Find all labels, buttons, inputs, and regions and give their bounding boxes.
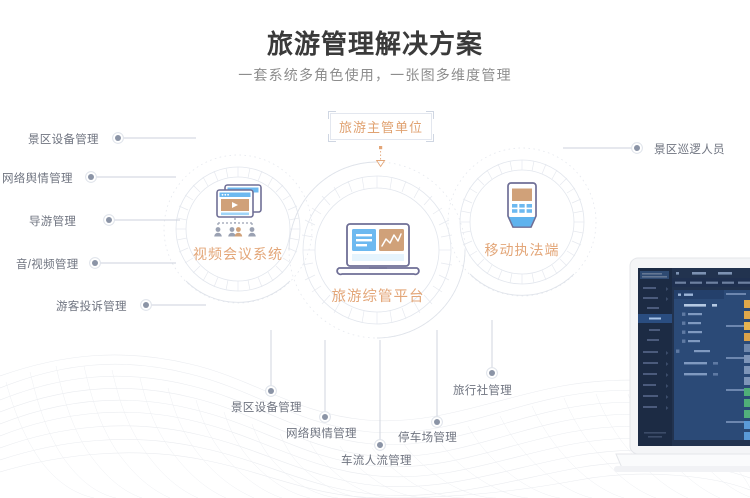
left-connectors xyxy=(95,138,206,305)
laptop-dashboard-icon xyxy=(333,222,423,280)
bottom-connectors xyxy=(271,320,492,440)
mobile-enforcement-device-icon xyxy=(500,182,544,238)
center-node-caption: 旅游综管平台 xyxy=(312,285,444,306)
right-label-0[interactable]: 景区巡逻人员 xyxy=(654,141,725,157)
laptop-mockup xyxy=(614,252,750,498)
right-connector-dots xyxy=(632,143,643,154)
left-label-3[interactable]: 音/视频管理 xyxy=(16,256,79,272)
bottom-label-0[interactable]: 景区设备管理 xyxy=(231,399,302,415)
badge-connector xyxy=(377,146,385,167)
page-subtitle: 一套系统多角色使用，一张图多维度管理 xyxy=(0,65,750,85)
left-label-2[interactable]: 导游管理 xyxy=(29,213,76,229)
left-label-4[interactable]: 游客投诉管理 xyxy=(56,298,127,314)
bottom-label-2[interactable]: 车流人流管理 xyxy=(341,452,412,468)
right-node-caption: 移动执法端 xyxy=(470,240,574,260)
video-conference-icon xyxy=(205,183,273,239)
authority-badge[interactable]: 旅游主管单位 xyxy=(330,113,432,140)
left-connector-dots xyxy=(86,133,152,311)
page-title: 旅游管理解决方案 xyxy=(0,24,750,61)
badge-label: 旅游主管单位 xyxy=(330,113,432,140)
left-label-0[interactable]: 景区设备管理 xyxy=(28,131,99,147)
bottom-label-4[interactable]: 旅行社管理 xyxy=(453,382,512,398)
solution-diagram-page: 旅游管理解决方案 一套系统多角色使用，一张图多维度管理 xyxy=(0,0,750,498)
left-node-caption: 视频会议系统 xyxy=(177,244,299,264)
left-label-1[interactable]: 网络舆情管理 xyxy=(2,170,73,186)
bottom-label-3[interactable]: 停车场管理 xyxy=(398,429,457,445)
bottom-label-1[interactable]: 网络舆情管理 xyxy=(286,425,357,441)
